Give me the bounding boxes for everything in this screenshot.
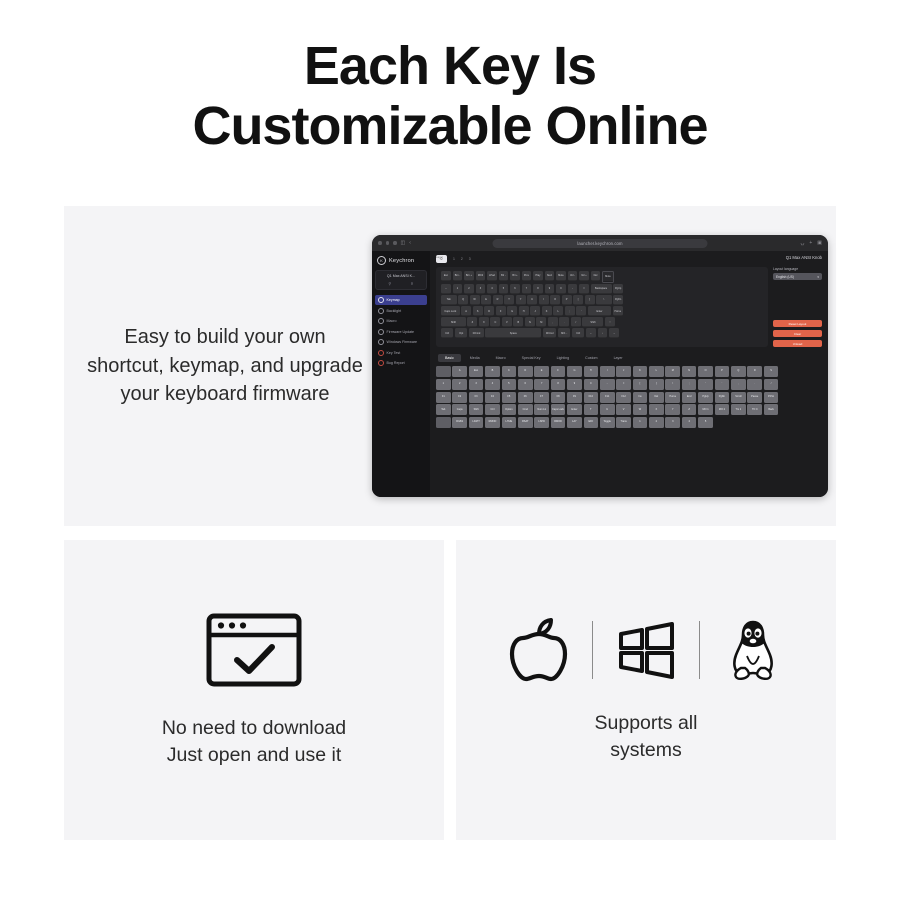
keycode-chip[interactable]: , xyxy=(731,379,746,390)
feature-panel-os-support: Supports all systems xyxy=(456,540,836,840)
keycode-chip[interactable]: Caps xyxy=(452,404,467,415)
keycode-chip[interactable]: 9 xyxy=(567,379,582,390)
keycode-chip[interactable]: 4 xyxy=(682,417,697,428)
keycode-chip[interactable]: Back xyxy=(764,404,779,415)
keycode-chip[interactable]: H xyxy=(584,366,599,377)
keycode-chip[interactable]: L xyxy=(649,366,664,377)
layout-language-label: Layout language xyxy=(773,267,822,271)
icon-divider-1 xyxy=(592,621,593,679)
keycap[interactable]: Shift xyxy=(582,317,603,327)
keychron-logo-icon: K xyxy=(377,256,386,265)
tabs-icon[interactable]: ▣ xyxy=(817,241,822,246)
keycap[interactable]: Tab xyxy=(441,295,457,305)
keycap[interactable]: → xyxy=(609,328,619,338)
keycode-chip[interactable]: 8 xyxy=(551,379,566,390)
keyboard-row: EscBrn -Brn +MCtlLPadBri -Bri +PrevPlayN… xyxy=(441,271,763,283)
keycode-chip[interactable]: 6 xyxy=(518,379,533,390)
macro-icon xyxy=(378,318,384,324)
keycode-chip[interactable]: X xyxy=(649,404,664,415)
keycode-chip[interactable]: \ xyxy=(665,379,680,390)
keycode-bank[interactable]: AEscBCDEFGHIJKLMNOPQRS1234567890-=[]\;'`… xyxy=(436,366,822,428)
keycode-chip[interactable]: / xyxy=(764,379,779,390)
keycode-chip[interactable]: = xyxy=(616,379,631,390)
keycap[interactable]: ⌘Cmd xyxy=(543,328,557,338)
keycap[interactable]: O xyxy=(550,295,560,305)
keycode-bank-row: TabCapsShiftCtrlOptionCmdNum LkCaps Lock… xyxy=(436,404,822,415)
keycode-chip[interactable]: RMOD xyxy=(551,417,566,428)
keycap[interactable]: , xyxy=(548,317,558,327)
tab-custom[interactable]: Custom xyxy=(578,354,604,362)
keycode-chip[interactable]: S xyxy=(764,366,779,377)
layer-selector: Layer 0 1 2 3 xyxy=(436,255,471,263)
tab-lighting[interactable]: Lighting xyxy=(550,354,577,362)
keycode-chip[interactable]: F11 xyxy=(600,392,615,403)
keycap[interactable]: Backspace xyxy=(591,284,612,294)
layout-language-value: English (US) xyxy=(776,275,794,279)
keycode-chip[interactable]: Option xyxy=(502,404,517,415)
keycap[interactable]: W xyxy=(470,295,480,305)
keycode-chip[interactable]: . xyxy=(747,379,762,390)
keycode-chip[interactable]: Shift xyxy=(469,404,484,415)
keycode-chip[interactable]: M xyxy=(665,366,680,377)
keycode-chip[interactable]: ; xyxy=(682,379,697,390)
keycap[interactable]: J xyxy=(530,306,540,316)
keycode-chip[interactable]: PrtSc xyxy=(764,392,779,403)
keycode-chip[interactable]: Q xyxy=(731,366,746,377)
traffic-light-zoom-icon[interactable] xyxy=(393,241,397,245)
keycode-chip[interactable]: Y xyxy=(665,404,680,415)
keycap[interactable]: 4 xyxy=(487,284,497,294)
keycap[interactable]: Y xyxy=(516,295,526,305)
keyboard-row: ShiftZXCVBNM,./Shift↑ xyxy=(441,317,763,327)
keycap[interactable]: Opt xyxy=(455,328,467,338)
sidebar-item-label: Windows Firmware xyxy=(387,340,418,344)
keycode-chip[interactable]: 1 xyxy=(633,417,648,428)
keymap-icon xyxy=(378,297,384,303)
keycode-chip[interactable]: E xyxy=(534,366,549,377)
keycap[interactable]: P xyxy=(562,295,572,305)
keycap[interactable]: I xyxy=(539,295,549,305)
address-bar[interactable]: launcher.keychron.com xyxy=(493,239,708,248)
keycode-chip[interactable]: 7 xyxy=(534,379,549,390)
keycap[interactable]: Vol - xyxy=(568,271,578,281)
keycap[interactable]: MO... xyxy=(558,328,570,338)
keycode-chip[interactable]: Cmd xyxy=(518,404,533,415)
keycode-chip[interactable]: O xyxy=(698,366,713,377)
connected-keyboard-card[interactable]: Q1 Max ANSI K... ⚲ ⚱ xyxy=(375,270,427,290)
traffic-light-minimize-icon[interactable] xyxy=(386,241,390,245)
brand: K Keychron xyxy=(377,256,427,265)
page-title: Each Key Is Customizable Online xyxy=(0,0,900,157)
keycode-chip[interactable]: End xyxy=(682,392,697,403)
keycap[interactable]: \ xyxy=(596,295,612,305)
keycode-chip[interactable]: [ xyxy=(633,379,648,390)
keycode-chip[interactable]: K xyxy=(633,366,648,377)
keycode-chip[interactable]: Z xyxy=(682,404,697,415)
icon-divider-2 xyxy=(699,621,700,679)
bluetooth-icon: ⚱ xyxy=(410,281,413,286)
keyboard-row: TabQWERTYUIOP[]\PgDn xyxy=(441,295,763,305)
keycode-chip[interactable]: F10 xyxy=(584,392,599,403)
no-download-icon-group xyxy=(204,611,304,689)
keycap[interactable]: 5 xyxy=(499,284,509,294)
keycode-chip[interactable]: RMOD xyxy=(485,417,500,428)
tab-layer[interactable]: Layer xyxy=(607,354,630,362)
sidebar-item-firmware-update[interactable]: Firmware Update xyxy=(375,327,427,337)
keycap[interactable]: ; xyxy=(565,306,575,316)
browser-window-controls: ◫ ‹ xyxy=(378,241,411,246)
keycode-chip[interactable]: 2 xyxy=(649,417,664,428)
share-icon[interactable]: ⍽ xyxy=(801,241,805,246)
usb-icon: ⚲ xyxy=(388,281,391,286)
keycap[interactable]: Del xyxy=(591,271,601,281)
keycode-chip[interactable]: Trans xyxy=(616,417,631,428)
sidebar-item-keymap[interactable]: Keymap xyxy=(375,295,427,305)
sidebar-nav: Keymap Backlight Macro xyxy=(375,295,427,368)
keycap[interactable]: A xyxy=(461,306,471,316)
keycode-chip[interactable]: MO 2 xyxy=(715,404,730,415)
keycode-chip[interactable]: TG 1 xyxy=(731,404,746,415)
feature-panel-no-download: No need to download Just open and use it xyxy=(64,540,444,840)
keycode-chip[interactable]: B xyxy=(485,366,500,377)
key-test-icon xyxy=(378,350,384,356)
os-support-caption: Supports all systems xyxy=(595,710,698,764)
keycap[interactable]: 2 xyxy=(464,284,474,294)
keycap[interactable]: ← xyxy=(586,328,596,338)
keycap[interactable]: D xyxy=(484,306,494,316)
layer-tab-1[interactable]: 1 xyxy=(453,257,455,261)
sidebar-item-label: Macro xyxy=(387,319,397,323)
keycode-chip[interactable]: F5 xyxy=(502,392,517,403)
keycode-chip[interactable]: F7 xyxy=(534,392,549,403)
headline-line-1: Each Key Is xyxy=(304,36,596,96)
keycode-chip[interactable]: Del xyxy=(649,392,664,403)
keycap[interactable]: Brn + xyxy=(464,271,474,281)
keycode-chip[interactable]: 5 xyxy=(698,417,713,428)
keyboard-options: Layout language English (US) ▾ Reset Lay… xyxy=(768,267,822,347)
keycode-chip[interactable]: F12 xyxy=(616,392,631,403)
keycap[interactable]: M xyxy=(536,317,546,327)
keycap[interactable]: Bri + xyxy=(510,271,520,281)
keycap[interactable]: ' xyxy=(576,306,586,316)
keycap[interactable]: T xyxy=(504,295,514,305)
windows-firmware-icon xyxy=(378,339,384,345)
keycap[interactable]: Caps Lock xyxy=(441,306,460,316)
keycap[interactable]: 9 xyxy=(545,284,555,294)
sidebar-item-backlight[interactable]: Backlight xyxy=(375,306,427,316)
keycode-chip[interactable]: Ctrl xyxy=(485,404,500,415)
keycap[interactable]: ~ xyxy=(441,284,451,294)
keycap[interactable]: LPad xyxy=(487,271,497,281)
keycode-chip[interactable]: Pause xyxy=(747,392,762,403)
linux-tux-icon xyxy=(722,616,784,684)
firmware-update-icon xyxy=(378,329,384,335)
keycode-chip[interactable]: ' xyxy=(698,379,713,390)
feature-panel-customization: Easy to build your own shortcut, keymap,… xyxy=(64,206,836,526)
keycap[interactable]: 6 xyxy=(510,284,520,294)
promo-page: Each Key Is Customizable Online Easy to … xyxy=(0,0,900,900)
keycap[interactable]: Mute xyxy=(602,271,614,283)
keyboard-layout[interactable]: EscBrn -Brn +MCtlLPadBri -Bri +PrevPlayN… xyxy=(436,267,768,347)
keycode-chip[interactable]: ` xyxy=(715,379,730,390)
launcher-sidebar: K Keychron Q1 Max ANSI K... ⚲ ⚱ xyxy=(372,251,430,497)
keycode-chip[interactable]: V xyxy=(616,404,631,415)
keycap[interactable]: PgUp xyxy=(613,284,623,294)
keycap[interactable]: Ctrl xyxy=(572,328,584,338)
keycode-chip[interactable]: F4 xyxy=(485,392,500,403)
keycap[interactable]: 8 xyxy=(533,284,543,294)
clear-button[interactable]: Clear xyxy=(773,330,822,337)
keycode-chip[interactable]: Ins xyxy=(633,392,648,403)
keycode-bank-row: 1234567890-=[]\;'`,./ xyxy=(436,379,822,390)
apple-icon xyxy=(508,616,570,684)
keycode-chip[interactable]: - xyxy=(600,379,615,390)
keycode-chip[interactable]: RGB1 xyxy=(452,417,467,428)
bug-report-icon xyxy=(378,360,384,366)
keycap[interactable]: Vol + xyxy=(579,271,589,281)
keycap[interactable]: PgDn xyxy=(613,295,623,305)
keyboard-row: Caps LockASDFGHJKL;'EnterHome xyxy=(441,306,763,316)
keycap[interactable]: Home xyxy=(613,306,623,316)
connected-keyboard-icons: ⚲ ⚱ xyxy=(379,281,423,286)
layer-tab-2[interactable]: 2 xyxy=(461,257,463,261)
tab-macro[interactable]: Macro xyxy=(489,354,513,362)
sidebar-item-key-test[interactable]: Key Test xyxy=(375,348,427,358)
keycode-chip[interactable]: 2 xyxy=(452,379,467,390)
keycap[interactable]: C xyxy=(490,317,500,327)
keycap[interactable]: Z xyxy=(467,317,477,327)
keycode-chip[interactable]: LIGHT xyxy=(469,417,484,428)
traffic-light-close-icon[interactable] xyxy=(378,241,382,245)
launcher-main: Layer 0 1 2 3 Q1 Max ANSI Knob EscBrn -B… xyxy=(430,251,828,497)
no-download-caption-line-1: No need to download xyxy=(162,715,346,742)
keycap[interactable]: [ xyxy=(573,295,583,305)
keycap[interactable]: Bri - xyxy=(499,271,509,281)
keycode-chip[interactable] xyxy=(436,366,451,377)
keycode-chip[interactable]: N xyxy=(682,366,697,377)
keycode-chip[interactable]: ] xyxy=(649,379,664,390)
keycode-chip[interactable]: D xyxy=(518,366,533,377)
keycap[interactable]: / xyxy=(571,317,581,327)
keycode-chip[interactable]: F6 xyxy=(518,392,533,403)
launcher-body: K Keychron Q1 Max ANSI K... ⚲ ⚱ xyxy=(372,251,828,497)
connected-keyboard-name: Q1 Max ANSI K... xyxy=(379,274,423,278)
keycode-chip[interactable]: EFF xyxy=(584,417,599,428)
sidebar-item-label: Keymap xyxy=(387,298,400,302)
keycode-category-tabs: Basic Media Macro Special Key Lighting C… xyxy=(436,354,822,362)
keycode-bank-row: F1F2F3F4F5F6F7F8F9F10F11F12InsDelHomeEnd… xyxy=(436,392,822,403)
layer-tab-3[interactable]: 3 xyxy=(469,257,471,261)
launcher-screenshot: ◫ ‹ launcher.keychron.com ⍽ + ▣ xyxy=(364,235,836,497)
keycode-chip[interactable]: C xyxy=(502,366,517,377)
brand-name: Keychron xyxy=(389,258,414,264)
keycap[interactable]: Enter xyxy=(588,306,612,316)
keycode-chip[interactable]: 0 xyxy=(584,379,599,390)
keycode-chip[interactable]: I xyxy=(600,366,615,377)
sidebar-icon[interactable]: ◫ xyxy=(401,241,406,246)
keycap[interactable]: = xyxy=(579,284,589,294)
chevron-left-icon[interactable]: ‹ xyxy=(409,241,411,246)
chevron-down-icon: ▾ xyxy=(817,275,819,279)
keycap[interactable]: G xyxy=(507,306,517,316)
keycode-chip[interactable]: MO 1 xyxy=(698,404,713,415)
unload-button[interactable]: Unload xyxy=(773,340,822,347)
keycap[interactable]: 7 xyxy=(522,284,532,294)
no-download-caption: No need to download Just open and use it xyxy=(162,715,346,769)
plus-icon[interactable]: + xyxy=(809,241,812,246)
keycode-bank-row: AEscBCDEFGHIJKLMNOPQRS xyxy=(436,366,822,377)
keycode-chip[interactable]: A xyxy=(452,366,467,377)
keycode-chip[interactable]: 1 xyxy=(436,379,451,390)
keycap[interactable]: ] xyxy=(585,295,595,305)
keycode-chip[interactable]: F1 xyxy=(436,392,451,403)
keycap[interactable]: Brn - xyxy=(453,271,463,281)
keycode-chip[interactable]: G xyxy=(567,366,582,377)
keycap[interactable]: F xyxy=(496,306,506,316)
keycap[interactable]: U xyxy=(527,295,537,305)
keycode-chip[interactable]: 4 xyxy=(485,379,500,390)
keycode-bank-row: RGB1LIGHTRMODLHUERSATLSPDRMODLAYEFFToggl… xyxy=(436,417,822,428)
keycode-chip[interactable]: Caps Lock xyxy=(551,404,566,415)
keycode-chip[interactable]: R xyxy=(747,366,762,377)
keycode-chip[interactable]: Enter xyxy=(567,404,582,415)
tab-media[interactable]: Media xyxy=(463,354,487,362)
keycap[interactable]: S xyxy=(473,306,483,316)
keycap[interactable]: Ctrl xyxy=(441,328,453,338)
keycap[interactable]: ⌘Cmd xyxy=(469,328,484,338)
keycode-chip[interactable]: J xyxy=(616,366,631,377)
keycode-chip[interactable]: P xyxy=(715,366,730,377)
keycode-chip[interactable]: U xyxy=(600,404,615,415)
sidebar-item-label: Key Test xyxy=(387,351,401,355)
keycode-chip[interactable]: F xyxy=(551,366,566,377)
keycap[interactable]: Space xyxy=(485,328,541,338)
os-support-caption-line-1: Supports all xyxy=(595,710,698,737)
keycode-chip[interactable]: Esc xyxy=(469,366,484,377)
keycap[interactable]: Play xyxy=(533,271,543,281)
keycap[interactable]: Esc xyxy=(441,271,451,281)
tab-basic[interactable]: Basic xyxy=(438,354,461,362)
keycode-chip[interactable]: LHUE xyxy=(502,417,517,428)
keycode-chip[interactable]: 3 xyxy=(665,417,680,428)
keycode-chip[interactable]: F2 xyxy=(452,392,467,403)
sidebar-item-label: Bug Report xyxy=(387,361,405,365)
keycap[interactable]: N xyxy=(525,317,535,327)
keycap[interactable]: Shift xyxy=(441,317,466,327)
backlight-icon xyxy=(378,308,384,314)
keycode-chip[interactable]: T xyxy=(584,404,599,415)
keycode-chip[interactable]: LSPD xyxy=(534,417,549,428)
os-support-caption-line-2: systems xyxy=(595,737,698,764)
keycode-chip[interactable]: W xyxy=(633,404,648,415)
keyboard-action-buttons: Reset Layout Clear Unload xyxy=(773,320,822,347)
sidebar-item-macro[interactable]: Macro xyxy=(375,316,427,326)
keycap[interactable]: 0 xyxy=(556,284,566,294)
browser-toolbar: ◫ ‹ launcher.keychron.com ⍽ + ▣ xyxy=(372,235,828,251)
keycap[interactable]: ↓ xyxy=(598,328,608,338)
keycap[interactable]: R xyxy=(493,295,503,305)
keycap[interactable]: MCtl xyxy=(476,271,486,281)
keycode-chip[interactable]: Scroll xyxy=(731,392,746,403)
keyboard-and-options: EscBrn -Brn +MCtlLPadBri -Bri +PrevPlayN… xyxy=(436,267,822,347)
keycode-chip[interactable]: Num Lk xyxy=(534,404,549,415)
feature-copy-customization: Easy to build your own shortcut, keymap,… xyxy=(64,323,364,408)
keycap[interactable]: - xyxy=(568,284,578,294)
keycap[interactable]: Q xyxy=(458,295,468,305)
keycode-chip[interactable]: Tab xyxy=(436,404,451,415)
keycode-chip[interactable]: Home xyxy=(665,392,680,403)
keycap[interactable]: . xyxy=(559,317,569,327)
keycap[interactable]: H xyxy=(519,306,529,316)
windows-icon xyxy=(615,616,677,684)
main-header: Layer 0 1 2 3 Q1 Max ANSI Knob xyxy=(436,255,822,263)
keycap[interactable]: K xyxy=(542,306,552,316)
keycap[interactable]: E xyxy=(481,295,491,305)
keycode-chip[interactable] xyxy=(436,417,451,428)
keycode-chip[interactable]: 5 xyxy=(502,379,517,390)
keycap[interactable]: Prev xyxy=(522,271,532,281)
no-download-caption-line-2: Just open and use it xyxy=(162,742,346,769)
sidebar-item-label: Firmware Update xyxy=(387,330,415,334)
keycap[interactable]: V xyxy=(502,317,512,327)
keycode-chip[interactable]: F9 xyxy=(567,392,582,403)
layout-language-select[interactable]: English (US) ▾ xyxy=(773,273,822,280)
os-icon-group xyxy=(508,616,784,684)
layer-selector-label: Layer xyxy=(436,255,443,259)
reset-layout-button[interactable]: Reset Layout xyxy=(773,320,822,327)
keyboard-row: ~1234567890-=BackspacePgUp xyxy=(441,284,763,294)
keycap[interactable]: 3 xyxy=(476,284,486,294)
keycode-chip[interactable]: F3 xyxy=(469,392,484,403)
keycap[interactable]: X xyxy=(479,317,489,327)
browser-window-check-icon xyxy=(204,611,304,689)
sidebar-item-label: Backlight xyxy=(387,309,402,313)
keycap[interactable]: L xyxy=(553,306,563,316)
keycap[interactable]: 1 xyxy=(453,284,463,294)
keyboard-model-title: Q1 Max ANSI Knob xyxy=(786,255,822,260)
keycode-chip[interactable]: 3 xyxy=(469,379,484,390)
keycode-chip[interactable]: Toggle xyxy=(600,417,615,428)
keycode-chip[interactable]: PgUp xyxy=(698,392,713,403)
sidebar-item-windows-firmware[interactable]: Windows Firmware xyxy=(375,337,427,347)
headline-line-2: Customizable Online xyxy=(0,96,900,156)
keycode-chip[interactable]: PgDn xyxy=(715,392,730,403)
browser-toolbar-right: ⍽ + ▣ xyxy=(801,241,822,246)
sidebar-item-bug-report[interactable]: Bug Report xyxy=(375,358,427,368)
keycap[interactable]: ↑ xyxy=(605,317,615,327)
keyboard-row: CtrlOpt⌘CmdSpace⌘CmdMO...Ctrl←↓→ xyxy=(441,328,763,338)
tab-special-key[interactable]: Special Key xyxy=(515,354,548,362)
keycap[interactable]: B xyxy=(513,317,523,327)
keycode-chip[interactable]: TO 0 xyxy=(747,404,762,415)
address-bar-url: launcher.keychron.com xyxy=(577,241,622,246)
keycode-chip[interactable]: RSAT xyxy=(518,417,533,428)
keycap[interactable]: Mute xyxy=(556,271,566,281)
keycode-chip[interactable]: LAY xyxy=(567,417,582,428)
keycode-chip[interactable]: F8 xyxy=(551,392,566,403)
keycap[interactable]: Next xyxy=(545,271,555,281)
keychron-launcher-window: ◫ ‹ launcher.keychron.com ⍽ + ▣ xyxy=(372,235,828,497)
